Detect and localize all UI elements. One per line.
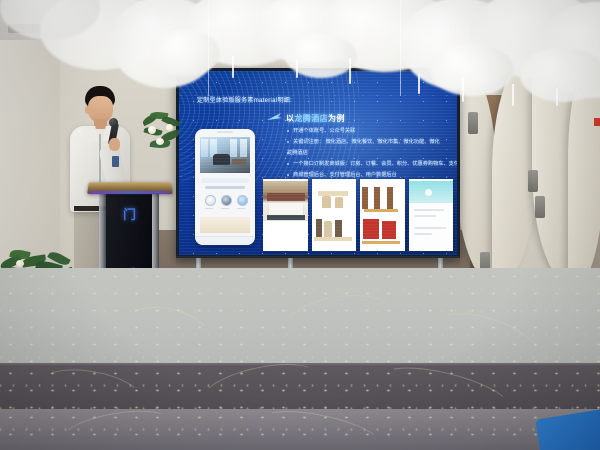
slide-bullet: 商城管理后台、支付管理后台、用户数据后台 [287,171,451,179]
lower-floor-carpet-pattern [0,409,600,450]
led-wall-shadow [176,256,460,266]
presenter-hand [109,138,120,151]
phone-hero-photo [200,137,250,173]
slide-heading-suffix: 为例 [328,114,345,123]
phone-promo-strip [200,217,250,233]
phone-icon-dining [221,195,230,209]
wall-tab-3 [535,196,545,218]
podium-top-glow [90,191,170,194]
slide-photo-card [409,179,454,251]
presenter-badge [112,156,119,167]
slide-photo-card [312,179,357,251]
plant-flower-arrangement [142,112,184,162]
phone-title-bar [205,186,245,189]
stage-platform [0,268,600,368]
slide-photo-card [360,179,405,251]
slide-bullet-cont: 龙腾酒店 [287,149,451,157]
slide-bullet: 关键词注册： 微化酒店、微化餐饮、微化市集、微化功能、微化 [287,138,451,146]
slide-bullet: 开通个体账号、公众号关联 [287,127,451,135]
stage-carpet-pattern [0,268,600,368]
slide-bullet: 一个接口订制发商城版：订房、订餐、会员、积分、优惠券购物车、支付等 [287,160,451,168]
phone-search-bar [201,178,249,183]
lower-floor [0,409,600,450]
phone-icon-booking [205,195,214,209]
slide-bullet-list: 开通个体账号、公众号关联 关键词注册： 微化酒店、微化餐饮、微化市集、微化功能、… [287,127,451,182]
presentation-photo-scene: 定制型体验版服务素material明细: 以龙腾酒店为例 开通个体账号、公众号关… [0,0,600,450]
wall-tab-2 [528,170,538,192]
phone-icon-row [201,195,249,211]
slide-arrow-icon [267,113,283,122]
slide-phone-mockup [195,129,255,245]
slide-photo-card-row [263,179,453,251]
phone-tab-bar [195,236,255,245]
podium-logo: 门 [117,204,141,222]
microphone-head-icon [109,118,118,127]
slide-heading: 以龙腾酒店为例 [286,113,345,124]
step-carpet-pattern [0,365,600,411]
phone-notch [217,131,233,133]
exit-sign-icon [594,118,600,126]
presenter-ear [85,106,90,114]
stage-step-face [0,365,600,411]
wall-tab-1 [468,112,478,134]
phone-icon-member [237,195,246,209]
slide-heading-highlight: 龙腾酒店 [294,114,328,123]
slide-photo-card [263,179,308,251]
